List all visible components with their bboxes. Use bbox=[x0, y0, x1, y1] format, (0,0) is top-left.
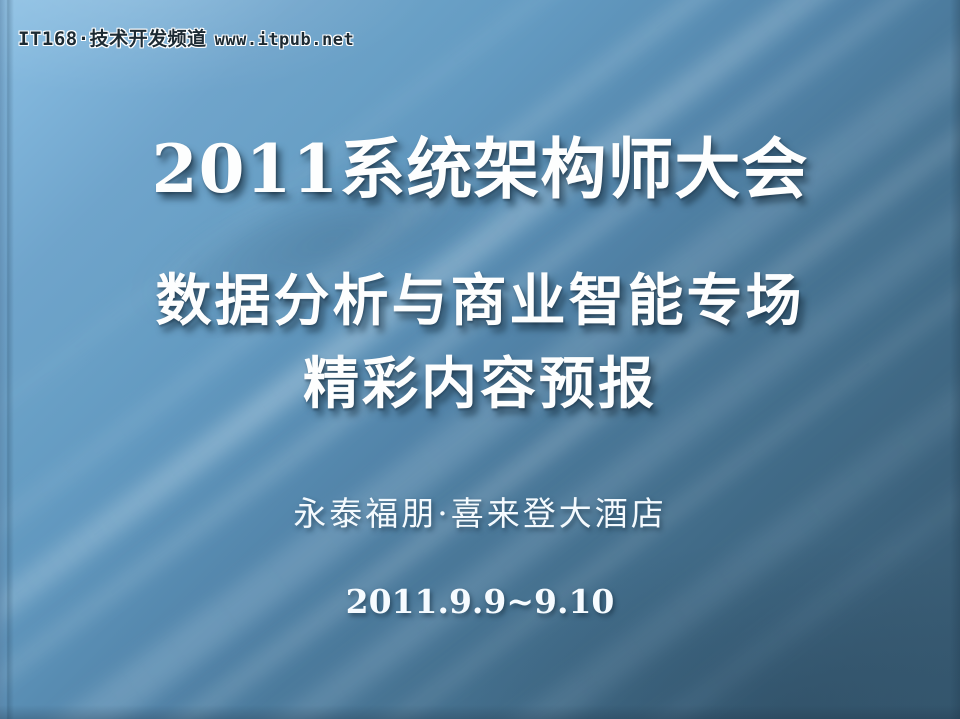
date-text: 2011.9.9~9.10 bbox=[0, 585, 960, 618]
venue-text: 永泰福朋·喜来登大酒店 bbox=[0, 497, 960, 530]
subtitle-line-2: 精彩内容预报 bbox=[0, 356, 960, 412]
slide-content: 2011系统架构师大会 数据分析与商业智能专场 精彩内容预报 永泰福朋·喜来登大… bbox=[0, 0, 960, 719]
page-title: 2011系统架构师大会 bbox=[0, 136, 960, 202]
presentation-slide: IT168·技术开发频道www.itpub.net 2011系统架构师大会 数据… bbox=[0, 0, 960, 719]
subtitle-line-1: 数据分析与商业智能专场 bbox=[0, 273, 960, 329]
